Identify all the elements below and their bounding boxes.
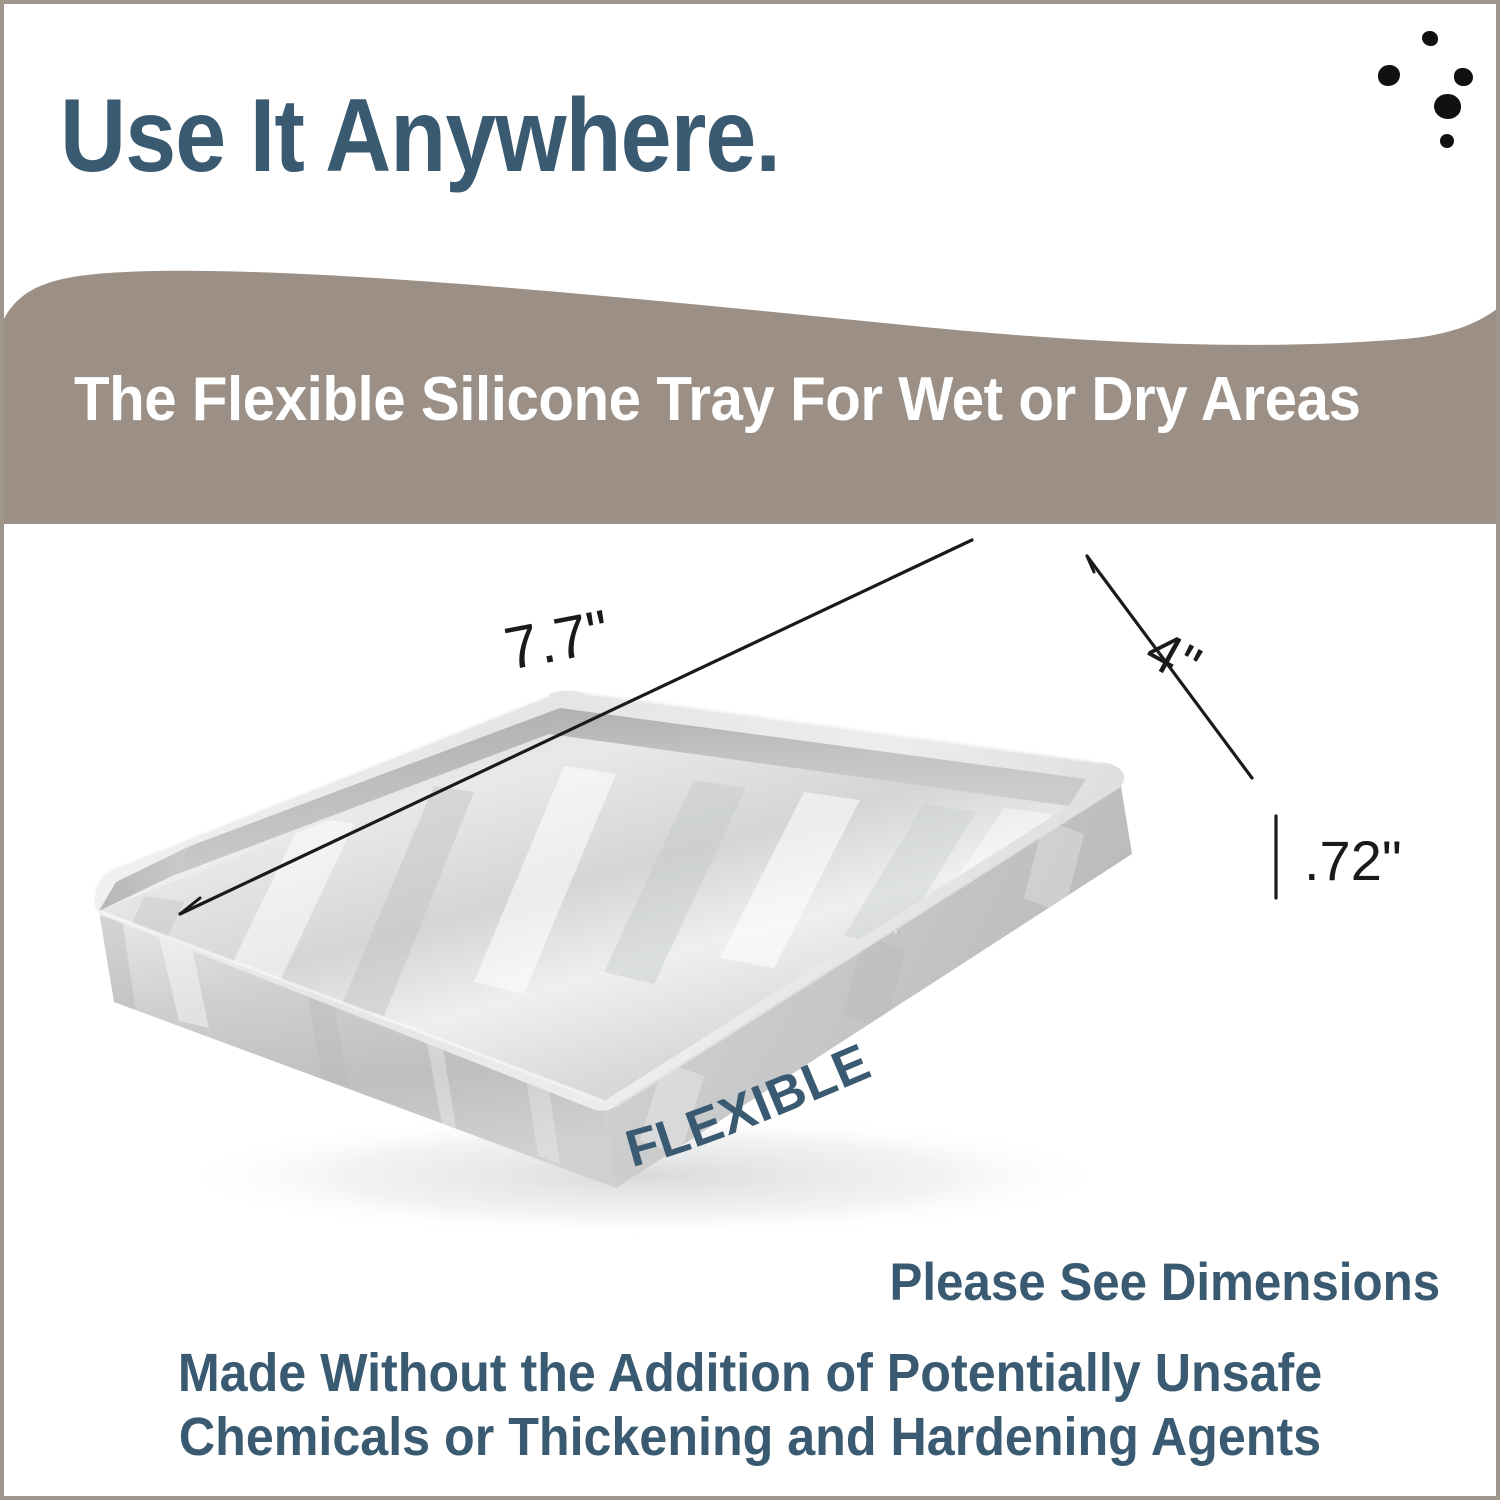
decoration-dot xyxy=(1454,68,1473,86)
decoration-dot xyxy=(1422,31,1438,46)
see-dimensions-note: Please See Dimensions xyxy=(889,1252,1440,1313)
banner-subtitle: The Flexible Silicone Tray For Wet or Dr… xyxy=(74,364,1390,435)
scattered-dots-decoration xyxy=(1334,24,1500,194)
safety-claim: Made Without the Addition of Potentially… xyxy=(4,1342,1496,1469)
product-infographic-page: Use It Anywhere. The Flexible Silicone T… xyxy=(0,0,1500,1500)
dimension-label-height: .72" xyxy=(1304,828,1402,893)
decoration-dot xyxy=(1440,134,1454,148)
page-title: Use It Anywhere. xyxy=(60,82,780,191)
decoration-dot xyxy=(1434,94,1461,119)
flexible-overlay-label: FLEXIBLE xyxy=(624,1029,984,1189)
decoration-dot xyxy=(1378,65,1400,86)
safety-claim-line-1: Made Without the Addition of Potentially… xyxy=(56,1342,1444,1406)
safety-claim-line-2: Chemicals or Thickening and Hardening Ag… xyxy=(56,1406,1444,1470)
flexible-text: FLEXIBLE xyxy=(624,1033,879,1179)
